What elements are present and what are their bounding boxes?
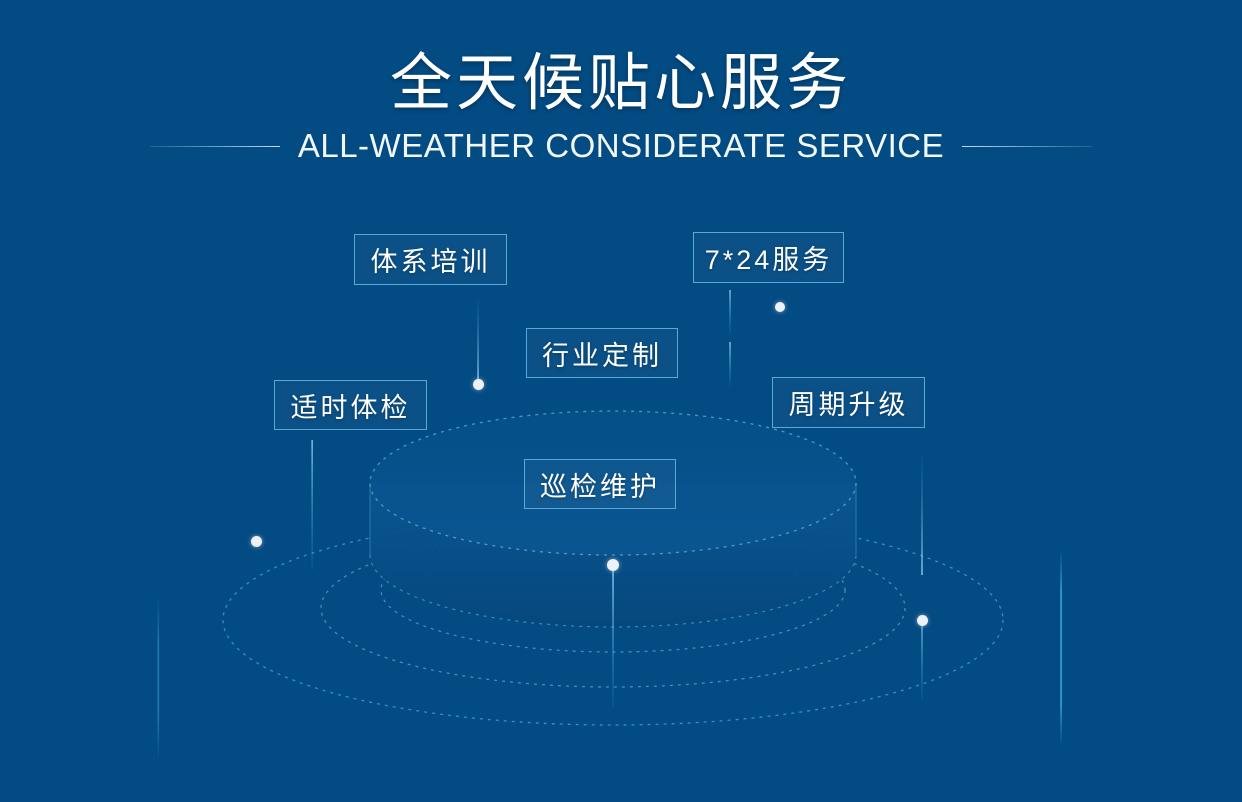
stem-left (311, 440, 313, 570)
node-training[interactable]: 体系培训 (354, 234, 507, 285)
node-upgrade-label: 周期升级 (789, 383, 909, 422)
node-custom-label: 行业定制 (542, 334, 662, 373)
accent-line-right (1060, 548, 1062, 748)
page-title-cn: 全天候贴心服务 (0, 48, 1242, 120)
node-checkup-label: 适时体检 (291, 386, 411, 425)
stem-center (612, 565, 614, 707)
stem-247-upper (729, 290, 731, 334)
stem-247-lower (729, 342, 731, 386)
dot-training (473, 379, 484, 390)
node-training-label: 体系培训 (371, 240, 491, 279)
stem-right (921, 620, 922, 700)
dot-right-base (917, 615, 928, 626)
accent-line-left (158, 596, 160, 762)
node-custom[interactable]: 行业定制 (526, 328, 678, 378)
dot-247 (775, 302, 785, 312)
page-title-en: ALL-WEATHER CONSIDERATE SERVICE (280, 124, 962, 168)
node-maintenance[interactable]: 巡检维护 (524, 459, 676, 509)
node-upgrade[interactable]: 周期升级 (772, 377, 925, 428)
stem-right-upper (921, 455, 922, 575)
subtitle-row: ALL-WEATHER CONSIDERATE SERVICE (0, 124, 1242, 168)
node-checkup[interactable]: 适时体检 (274, 380, 427, 430)
node-247-label: 7*24服务 (705, 238, 833, 277)
node-maintenance-label: 巡检维护 (540, 465, 660, 504)
node-247[interactable]: 7*24服务 (693, 232, 844, 283)
platform-illustration (0, 0, 1242, 802)
stem-training (477, 300, 479, 384)
rule-right-decor (962, 146, 1092, 147)
dot-left-base (251, 536, 262, 547)
dot-center (607, 559, 619, 571)
rule-left-decor (150, 146, 280, 147)
service-infographic: 全天候贴心服务 ALL-WEATHER CONSIDERATE SERVICE … (0, 0, 1242, 802)
